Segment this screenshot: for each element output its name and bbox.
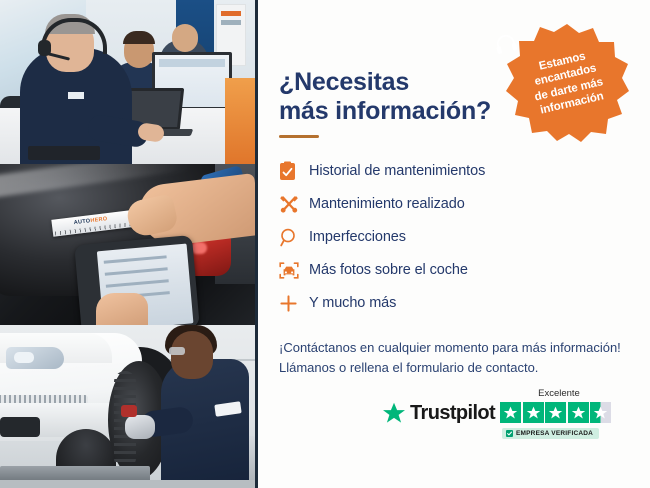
tablet-line <box>105 267 168 275</box>
verified-company-badge: EMPRESA VERIFICADA <box>502 428 599 439</box>
plus-icon <box>279 294 309 313</box>
trustpilot-rating-label: Excelente <box>502 388 616 399</box>
content-panel: ¿Necesitas más información? Estamos <box>258 0 650 488</box>
tablet-line <box>104 255 167 263</box>
list-item: Historial de mantenimientos <box>279 155 579 187</box>
headlight <box>6 347 64 369</box>
list-item-label: Imperfecciones <box>309 229 406 245</box>
trustpilot-widget[interactable]: Trustpilot Excelente <box>382 388 632 450</box>
photo-vehicle-inspection-with-ruler: AUTOHERO <box>0 164 255 325</box>
workshop-floor <box>0 480 255 488</box>
contact-copy: ¡Contáctanos en cualquier momento para m… <box>279 338 639 378</box>
safety-glasses <box>169 347 185 355</box>
mechanic-glove <box>125 415 155 439</box>
contact-info-banner: AUTOHERO <box>0 0 650 488</box>
star-half-icon <box>590 402 611 423</box>
page-title-line-1: ¿Necesitas <box>279 68 409 96</box>
orange-equipment <box>225 78 255 164</box>
badge-text: Estamos encantados de darte más informac… <box>510 43 624 121</box>
photo-mechanic-inspecting-wheel <box>0 325 255 488</box>
trustpilot-star-icon <box>382 402 406 425</box>
list-item-label: Y mucho más <box>309 295 396 311</box>
check-square-icon <box>506 430 513 437</box>
mechanic-head <box>171 331 213 379</box>
list-item: Más fotos sobre el coche <box>279 254 579 286</box>
agent-name-badge <box>68 92 84 99</box>
trustpilot-wordmark: Trustpilot <box>410 402 495 425</box>
trustpilot-star-rating <box>500 402 632 423</box>
title-underline-rule <box>279 135 319 138</box>
star-filled-icon <box>523 402 544 423</box>
trustpilot-logo[interactable]: Trustpilot <box>382 402 495 425</box>
ruler-brand-prefix: AUTO <box>74 218 91 226</box>
inspector-hand-lower <box>96 293 148 325</box>
list-item-label: Más fotos sobre el coche <box>309 262 468 278</box>
list-item-label: Mantenimiento realizado <box>309 196 465 212</box>
photo-column: AUTOHERO <box>0 0 258 488</box>
page-title-line-2: más información? <box>279 97 491 125</box>
list-item: Imperfecciones <box>279 221 579 253</box>
colleague-far-head <box>172 24 198 52</box>
clipboard-check-icon <box>279 161 309 181</box>
star-filled-icon <box>500 402 521 423</box>
star-filled-icon <box>545 402 566 423</box>
wrench-screwdriver-icon <box>279 194 309 214</box>
list-item: Y mucho más <box>279 287 579 319</box>
promo-sticker-badge: Estamos encantados de darte más informac… <box>505 22 629 142</box>
contact-copy-line-2: Llámanos o rellena el formulario de cont… <box>279 358 639 378</box>
page-title: ¿Necesitas más información? <box>279 68 529 126</box>
lower-air-intake <box>0 417 40 437</box>
star-filled-icon <box>568 402 589 423</box>
hand-tool <box>121 405 137 417</box>
magnifier-icon <box>279 228 309 247</box>
desk-tablet <box>28 146 100 160</box>
list-item: Mantenimiento realizado <box>279 188 579 220</box>
contact-copy-line-1: ¡Contáctanos en cualquier momento para m… <box>279 338 639 358</box>
photo-call-center-agent-with-headset <box>0 0 255 164</box>
trustpilot-rating[interactable]: Excelente <box>500 388 632 442</box>
colleague-mid-hair <box>123 31 155 44</box>
car-scan-icon <box>279 261 309 280</box>
tablet-line <box>106 279 169 287</box>
verified-company-label: EMPRESA VERIFICADA <box>516 430 593 437</box>
list-item-label: Historial de mantenimientos <box>309 163 485 179</box>
features-list: Historial de mantenimientos M <box>279 155 579 320</box>
ruler-brand-suffix: HERO <box>90 216 108 224</box>
